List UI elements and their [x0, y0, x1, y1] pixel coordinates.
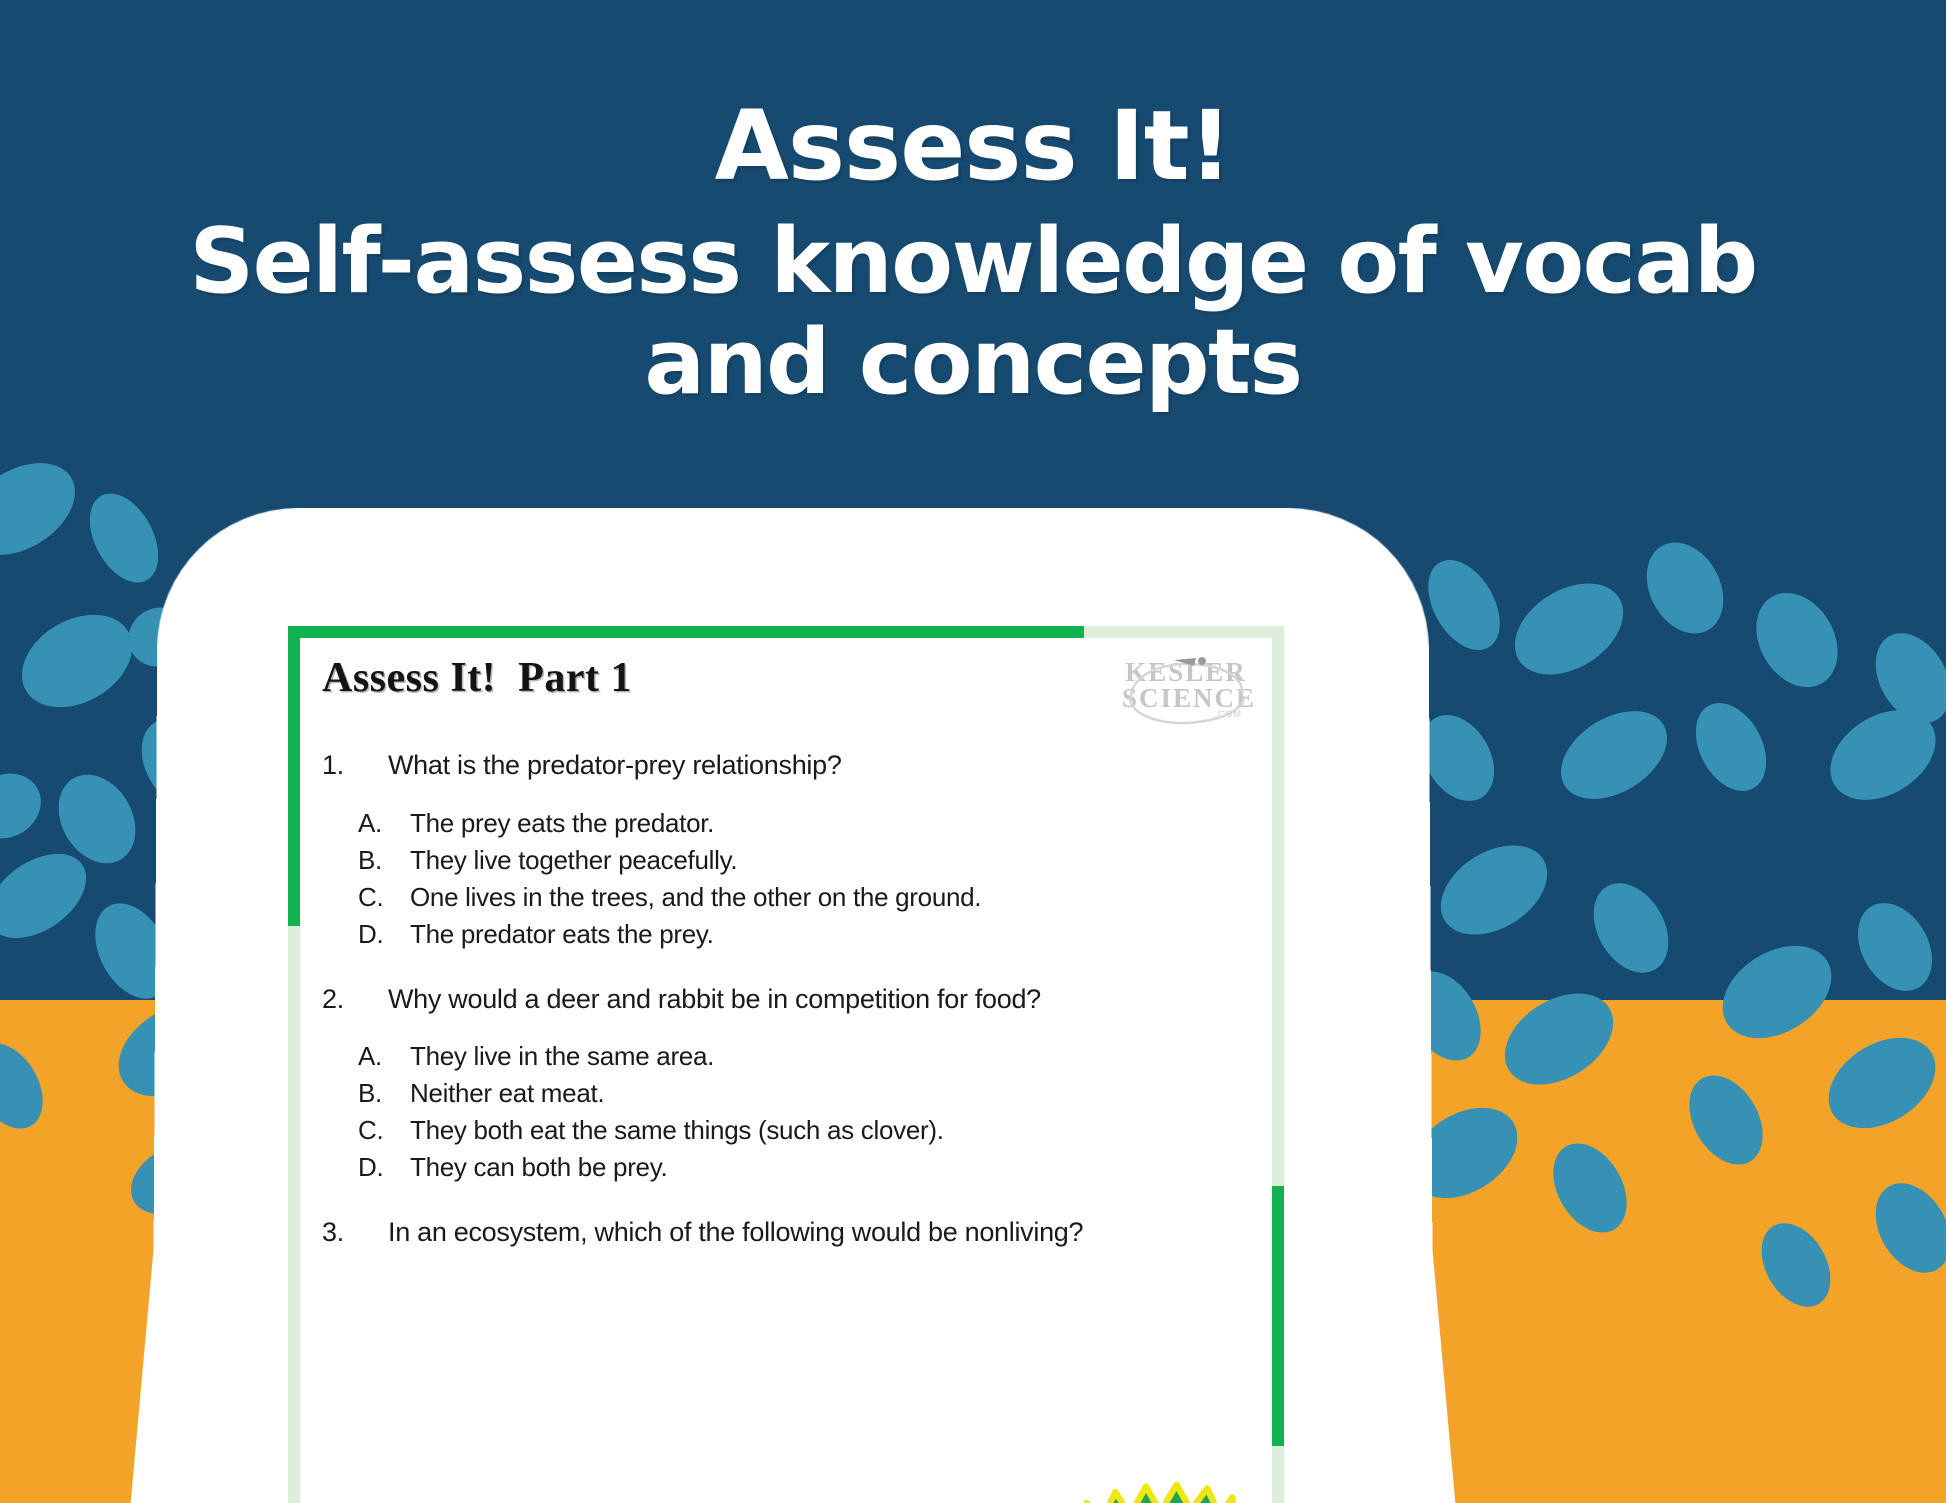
- answer-choice-letter: C.: [358, 1112, 410, 1149]
- answer-choice-text: The prey eats the predator.: [410, 805, 1250, 842]
- worksheet-border-right: [1272, 1186, 1284, 1446]
- answer-choice-text: Neither eat meat.: [410, 1075, 1250, 1112]
- answer-choice-list: A.The prey eats the predator.B.They live…: [322, 805, 1250, 953]
- answer-choice-letter: D.: [358, 916, 410, 953]
- answer-choice-letter: B.: [358, 842, 410, 879]
- answer-choice[interactable]: D.They can both be prey.: [358, 1149, 1250, 1186]
- answer-choice[interactable]: D.The predator eats the prey.: [358, 916, 1250, 953]
- question-text: In an ecosystem, which of the following …: [388, 1216, 1250, 1250]
- worksheet-page: Assess It! Part 1 KESLER SCIENCE .COM: [288, 626, 1284, 1503]
- answer-choice-text: One lives in the trees, and the other on…: [410, 879, 1250, 916]
- worksheet-header: Assess It! Part 1 KESLER SCIENCE .COM: [322, 654, 1250, 719]
- answer-choice[interactable]: A.They live in the same area.: [358, 1038, 1250, 1075]
- answer-choice-letter: B.: [358, 1075, 410, 1112]
- answer-choice[interactable]: B.Neither eat meat.: [358, 1075, 1250, 1112]
- question-block: 3.In an ecosystem, which of the followin…: [322, 1216, 1250, 1250]
- worksheet-border-right-light-top: [1272, 626, 1284, 1186]
- answer-choice-letter: C.: [358, 879, 410, 916]
- question-text: What is the predator-prey relationship?: [388, 749, 1250, 783]
- starburst-badge-icon: [1070, 1456, 1240, 1503]
- worksheet-title: Assess It! Part 1: [322, 654, 632, 702]
- answer-choice[interactable]: A.The prey eats the predator.: [358, 805, 1250, 842]
- answer-choice[interactable]: C.One lives in the trees, and the other …: [358, 879, 1250, 916]
- question-block: 2.Why would a deer and rabbit be in comp…: [322, 983, 1250, 1186]
- question-prompt-row: 3.In an ecosystem, which of the followin…: [322, 1216, 1250, 1250]
- worksheet-content: Assess It! Part 1 KESLER SCIENCE .COM: [300, 638, 1272, 1503]
- question-block: 1.What is the predator-prey relationship…: [322, 749, 1250, 952]
- slide-canvas: Assess It! Self-assess knowledge of voca…: [0, 0, 1946, 1503]
- answer-choice-text: They can both be prey.: [410, 1149, 1250, 1186]
- question-number: 3.: [322, 1216, 388, 1250]
- question-text: Why would a deer and rabbit be in compet…: [388, 983, 1250, 1017]
- answer-choice[interactable]: C.They both eat the same things (such as…: [358, 1112, 1250, 1149]
- answer-choice-letter: A.: [358, 805, 410, 842]
- worksheet-border-left: [288, 626, 300, 926]
- question-list: 1.What is the predator-prey relationship…: [322, 749, 1250, 1250]
- answer-choice-letter: A.: [358, 1038, 410, 1075]
- worksheet-border-top-light: [1084, 626, 1284, 638]
- question-number: 1.: [322, 749, 388, 783]
- answer-choice-text: They live together peacefully.: [410, 842, 1250, 879]
- answer-choice-letter: D.: [358, 1149, 410, 1186]
- worksheet-border-left-light: [288, 926, 300, 1503]
- worksheet-border-right-light-bottom: [1272, 1446, 1284, 1503]
- question-number: 2.: [322, 983, 388, 1017]
- answer-choice[interactable]: B.They live together peacefully.: [358, 842, 1250, 879]
- question-prompt-row: 1.What is the predator-prey relationship…: [322, 749, 1250, 783]
- kesler-science-logo: KESLER SCIENCE .COM: [1122, 654, 1250, 719]
- answer-choice-text: They live in the same area.: [410, 1038, 1250, 1075]
- answer-choice-list: A.They live in the same area.B.Neither e…: [322, 1038, 1250, 1186]
- answer-choice-text: They both eat the same things (such as c…: [410, 1112, 1250, 1149]
- question-prompt-row: 2.Why would a deer and rabbit be in comp…: [322, 983, 1250, 1017]
- answer-choice-text: The predator eats the prey.: [410, 916, 1250, 953]
